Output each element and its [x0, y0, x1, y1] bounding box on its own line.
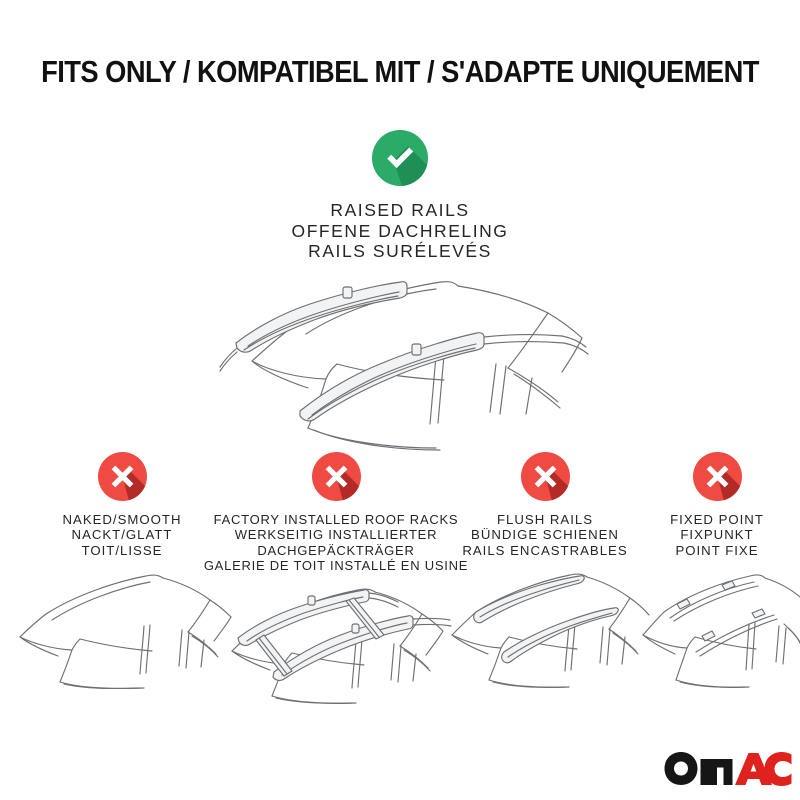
incompatible-item-flush-rails: FLUSH RAILS BÜNDIGE SCHIENEN RAILS ENCAS…	[440, 452, 650, 689]
compatible-section: RAISED RAILS OFFENE DACHRELING RAILS SUR…	[0, 130, 800, 262]
page-title: FITS ONLY / KOMPATIBEL MIT / S'ADAPTE UN…	[41, 57, 759, 88]
fixed-point-roof-illustration	[634, 564, 800, 689]
label-line-3: DACHGEPÄCKTRÄGER	[204, 543, 468, 558]
fitment-infographic: FITS ONLY / KOMPATIBEL MIT / S'ADAPTE UN…	[0, 0, 800, 800]
label-line-1: NAKED/SMOOTH	[63, 512, 182, 527]
incompatible-labels: FACTORY INSTALLED ROOF RACKS WERKSEITIG …	[204, 512, 468, 574]
incompatible-item-fixed-point: FIXED POINT FIXPUNKT POINT FIXE	[634, 452, 800, 689]
label-line-3: RAILS ENCASTRABLES	[462, 543, 627, 558]
check-circle-icon	[372, 130, 428, 186]
flush-rails-illustration	[440, 564, 650, 689]
factory-roof-racks-illustration	[212, 580, 460, 705]
compatible-label-line-3: RAILS SURÉLEVÉS	[0, 241, 800, 262]
label-line-3: POINT FIXE	[670, 543, 764, 558]
incompatible-item-factory-roof-racks: FACTORY INSTALLED ROOF RACKS WERKSEITIG …	[212, 452, 460, 705]
cross-circle-icon	[98, 452, 147, 501]
label-line-2: WERKSEITIG INSTALLIERTER	[204, 527, 468, 542]
compatible-label-line-2: OFFENE DACHRELING	[0, 221, 800, 242]
compatible-icon-row	[0, 130, 800, 186]
header: FITS ONLY / KOMPATIBEL MIT / S'ADAPTE UN…	[0, 46, 800, 98]
label-line-2: NACKT/GLATT	[63, 527, 182, 542]
label-line-1: FIXED POINT	[670, 512, 764, 527]
label-line-2: BÜNDIGE SCHIENEN	[462, 527, 627, 542]
cross-circle-icon	[312, 452, 361, 501]
compatible-label-line-1: RAISED RAILS	[0, 200, 800, 221]
omac-logo	[663, 750, 793, 790]
incompatible-section: NAKED/SMOOTH NACKT/GLATT TOIT/LISSE	[0, 452, 800, 702]
compatible-labels: RAISED RAILS OFFENE DACHRELING RAILS SUR…	[0, 200, 800, 262]
label-line-1: FACTORY INSTALLED ROOF RACKS	[204, 512, 468, 527]
incompatible-labels: FIXED POINT FIXPUNKT POINT FIXE	[670, 512, 764, 558]
raised-rails-illustration	[196, 278, 616, 453]
label-line-2: FIXPUNKT	[670, 527, 764, 542]
naked-smooth-roof-illustration	[6, 564, 238, 689]
cross-circle-icon	[693, 452, 742, 501]
incompatible-labels: FLUSH RAILS BÜNDIGE SCHIENEN RAILS ENCAS…	[462, 512, 627, 558]
label-line-1: FLUSH RAILS	[462, 512, 627, 527]
incompatible-labels: NAKED/SMOOTH NACKT/GLATT TOIT/LISSE	[63, 512, 182, 558]
label-line-3: TOIT/LISSE	[63, 543, 182, 558]
cross-circle-icon	[521, 452, 570, 501]
label-line-4: GALERIE DE TOIT INSTALLÉ EN USINE	[204, 558, 468, 573]
